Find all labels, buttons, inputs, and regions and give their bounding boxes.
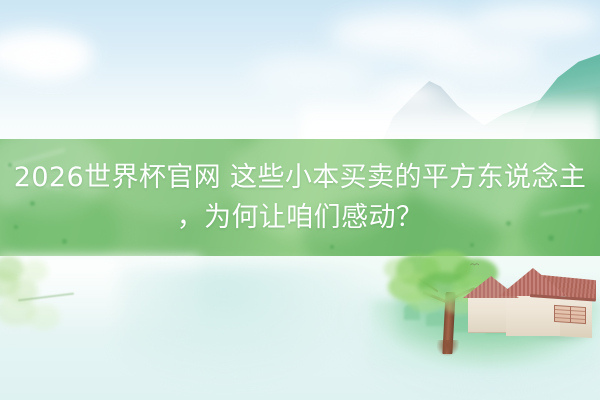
headline-text: 2026世界杯官网 这些小本买卖的平方东说念主 ，为何让咱们感动？ [0,139,600,257]
banner-image: 2026世界杯官网 这些小本买卖的平方东说念主 ，为何让咱们感动？ [0,0,600,400]
cloud-icon [250,56,370,92]
headline-line-2: ，为何让咱们感动？ [177,198,424,238]
house-window [554,305,586,324]
headline-line-1: 2026世界杯官网 这些小本买卖的平方东说念主 [14,158,587,198]
bird-icon [470,262,480,267]
cloud-icon [18,44,88,78]
cottage-house [468,268,596,340]
cloud-icon [470,4,600,38]
left-foliage [0,252,76,332]
